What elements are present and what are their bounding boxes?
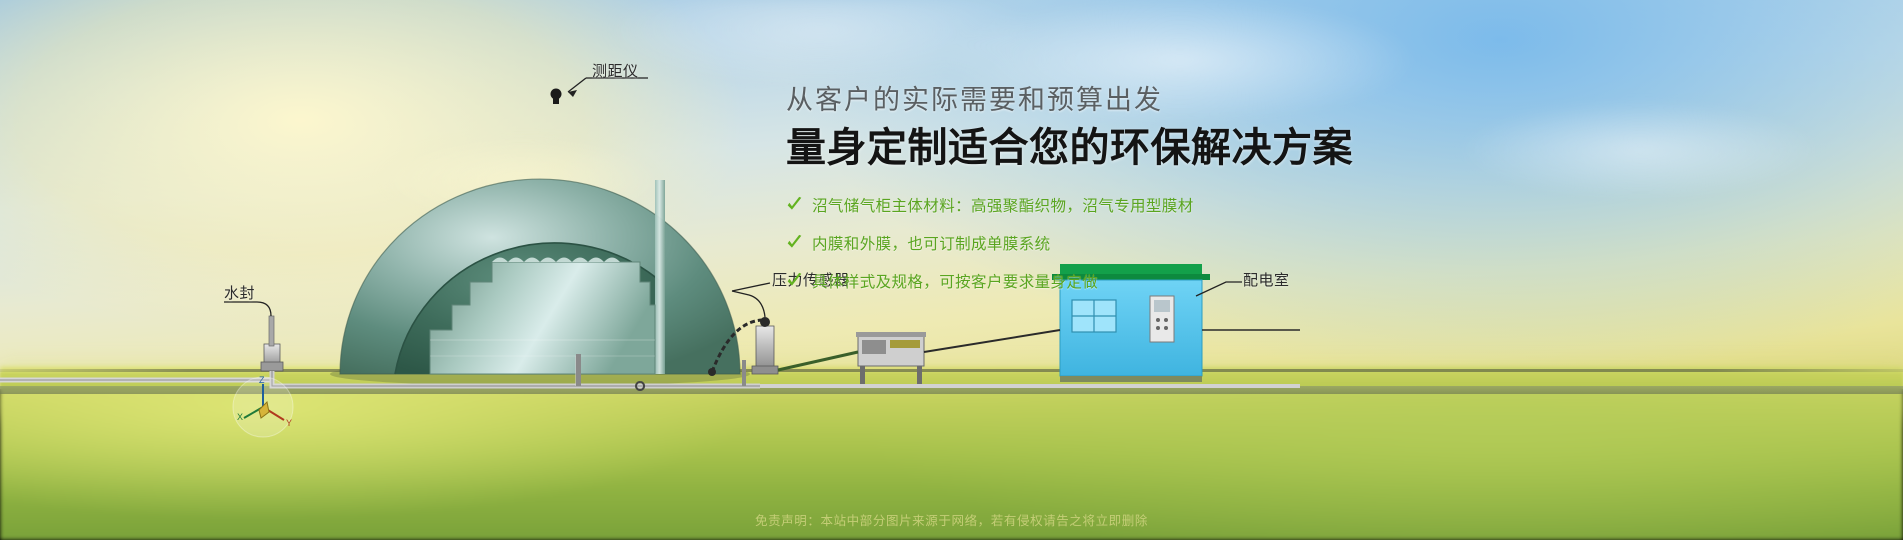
- water-seal-unit: [261, 316, 283, 371]
- axis-label-x: X: [237, 412, 243, 422]
- disclaimer-text: 免责声明：本站中部分图片来源于网络，若有侵权请告之将立即删除: [0, 510, 1903, 529]
- banner-stage: Z X Y 测距仪 水封 压力传感器 配电室 从客户的实际需要和预算出发 量身定…: [0, 0, 1903, 540]
- pressure-sensor-leader: [732, 283, 770, 317]
- list-item: 内膜和外膜，也可订制成单膜系统: [786, 232, 1306, 254]
- label-rangefinder: 测距仪: [592, 60, 639, 81]
- list-item: 沼气储气柜主体材料：高强聚酯织物，沼气专用型膜材: [786, 194, 1306, 216]
- axis-gizmo: Z X Y: [228, 372, 298, 442]
- check-icon: [786, 234, 803, 251]
- water-seal-leader: [224, 302, 271, 316]
- blower-skid: [856, 332, 926, 384]
- marketing-copy: 从客户的实际需要和预算出发 量身定制适合您的环保解决方案 沼气储气柜主体材料：高…: [786, 84, 1306, 308]
- rangefinder-device: [551, 89, 562, 105]
- axis-label-y: Y: [286, 418, 292, 428]
- headline-text: 量身定制适合您的环保解决方案: [786, 124, 1306, 172]
- feature-list: 沼气储气柜主体材料：高强聚酯织物，沼气专用型膜材 内膜和外膜，也可订制成单膜系统…: [786, 194, 1306, 292]
- check-icon: [786, 272, 803, 289]
- feature-label: 沼气储气柜主体材料：高强聚酯织物，沼气专用型膜材: [812, 194, 1194, 216]
- kicker-text: 从客户的实际需要和预算出发: [786, 84, 1306, 118]
- check-icon: [786, 196, 803, 213]
- axis-label-z: Z: [259, 375, 265, 385]
- label-water-seal: 水封: [224, 282, 255, 303]
- feature-label: 具体样式及规格，可按客户要求量身定做: [812, 270, 1098, 292]
- list-item: 具体样式及规格，可按客户要求量身定做: [786, 270, 1306, 292]
- feature-label: 内膜和外膜，也可订制成单膜系统: [812, 232, 1051, 254]
